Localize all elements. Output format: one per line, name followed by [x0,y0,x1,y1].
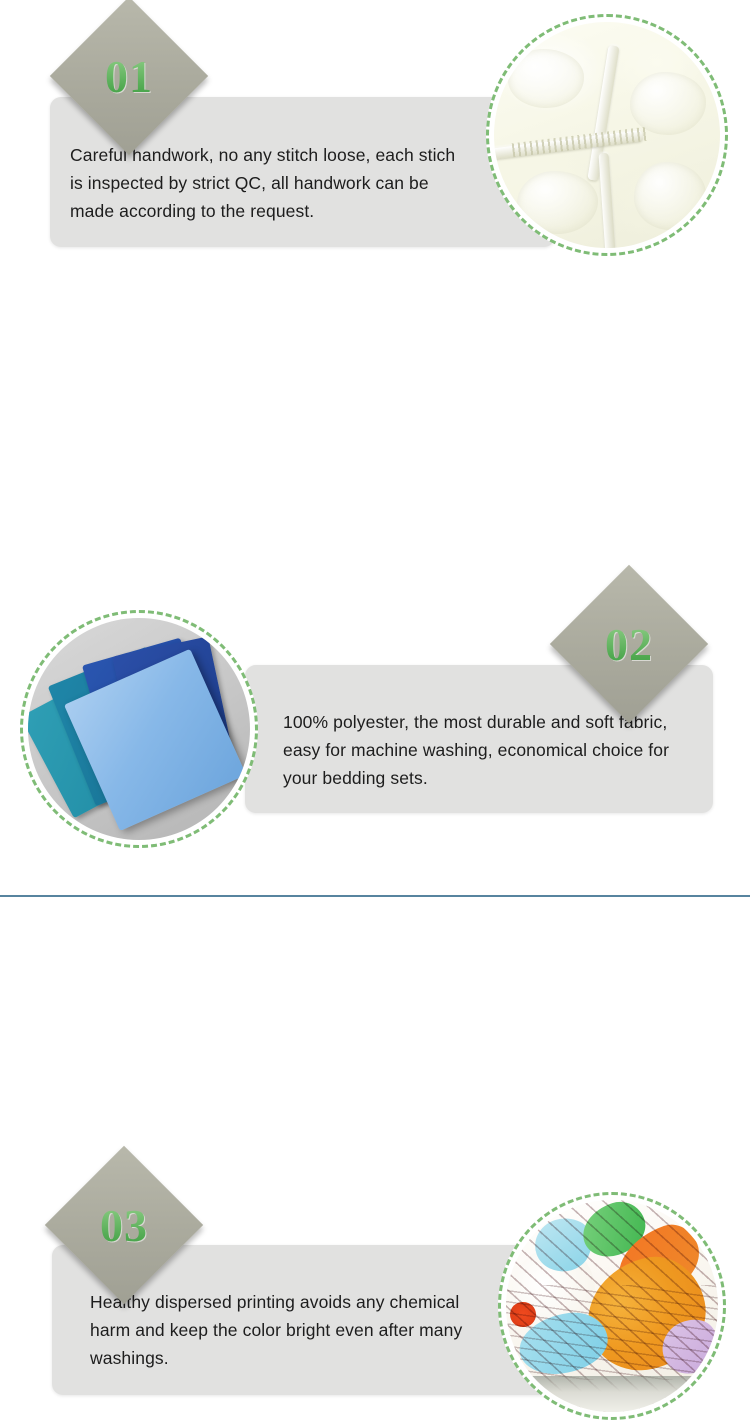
feature-photo-03 [498,1192,726,1420]
feature-section-01: Careful handwork, no any stitch loose, e… [0,0,750,290]
floral-print-fabric-image [506,1200,718,1412]
feature-section-02: 100% polyester, the most durable and sof… [0,290,750,580]
feature-photo-01 [486,14,728,256]
feature-badge-03: 03 [45,1146,203,1304]
infographic-page: Careful handwork, no any stitch loose, e… [0,0,750,901]
bottom-divider-rule [0,895,750,897]
feature-number-01: 01 [73,20,185,132]
floral-ink-strokes-lower [506,1285,718,1380]
quilted-fabric-image [494,22,720,248]
feature-number-03: 03 [68,1169,180,1281]
feature-text-03: Healthy dispersed printing avoids any ch… [90,1288,465,1372]
feature-section-03: Healthy dispersed printing avoids any ch… [0,580,750,870]
feature-badge-01: 01 [50,0,208,155]
quilt-puff [508,49,585,108]
fabric-hem-edge [506,1376,718,1412]
